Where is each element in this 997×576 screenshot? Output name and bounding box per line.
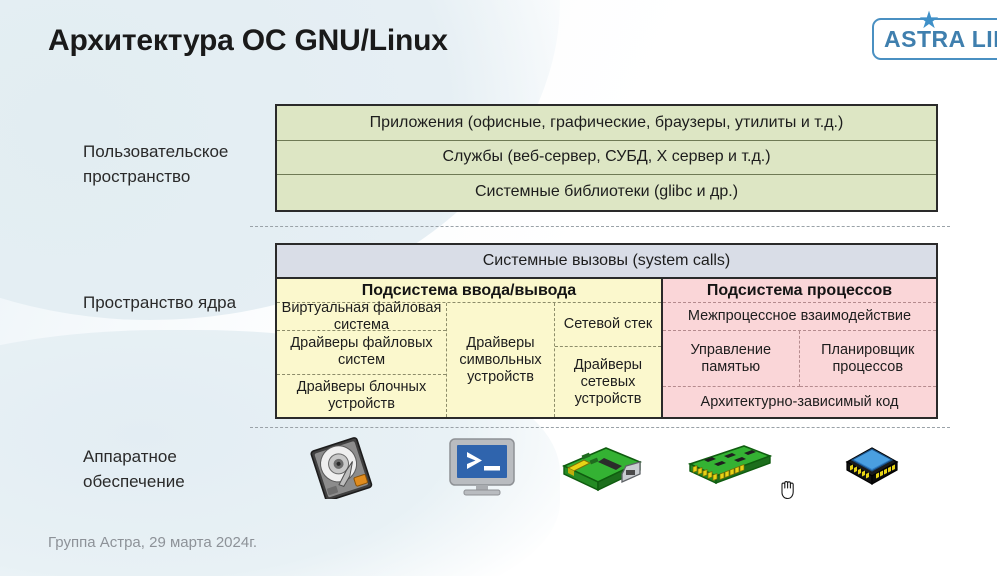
kernel-space-stack: Системные вызовы (system calls) Подсисте… [275,243,938,419]
user-row-system-libraries: Системные библиотеки (glibc и др.) [277,175,936,210]
cell-char-device-drivers: Драйверы символьных устройств [447,303,554,417]
astra-linux-logo: ★ ASTRA LIN [872,18,997,60]
cell-filesystem-drivers: Драйверы файловых систем [277,331,446,375]
memory-module-icon [686,444,774,488]
process-subsystem-column: Подсистема процессов Межпроцессное взаим… [663,279,936,417]
user-space-stack: Приложения (офисные, графические, браузе… [275,104,938,212]
slide-canvas: Архитектура ОС GNU/Linux ★ ASTRA LIN Пол… [0,0,997,576]
io-subsystem-grid: Виртуальная файловая система Драйверы фа… [277,303,661,417]
cell-network-device-drivers: Драйверы сетевых устройств [555,347,661,417]
user-row-services: Службы (веб-сервер, СУБД, X сервер и т.д… [277,141,936,176]
process-middle-row: Управление памятью Планировщик процессов [663,331,936,387]
user-row-applications: Приложения (офисные, графические, браузе… [277,106,936,141]
hard-disk-icon [307,437,377,499]
page-title: Архитектура ОС GNU/Linux [48,24,448,58]
cpu-chip-icon [843,440,901,490]
footer-text: Группа Астра, 29 марта 2024г. [48,534,257,551]
separator-user-kernel [250,226,950,227]
label-hardware: Аппаратное обеспечение [83,444,263,494]
logo-text: ASTRA LIN [884,26,997,53]
cell-network-stack: Сетевой стек [555,303,661,347]
cell-architecture-dependent-code: Архитектурно-зависимый код [663,387,936,417]
cell-memory-management: Управление памятью [663,331,800,387]
display-terminal-icon [448,437,516,497]
cell-interprocess-communication: Межпроцессное взаимодействие [663,303,936,331]
label-kernel-space: Пространство ядра [83,290,263,315]
separator-kernel-hardware [250,427,950,428]
process-subsystem-title: Подсистема процессов [663,279,936,303]
network-card-icon [560,444,644,492]
cell-process-scheduler: Планировщик процессов [800,331,937,387]
io-left-column: Виртуальная файловая система Драйверы фа… [277,303,447,417]
label-user-space: Пользовательское пространство [83,139,263,189]
kernel-body: Подсистема ввода/вывода Виртуальная файл… [277,279,936,417]
cell-block-device-drivers: Драйверы блочных устройств [277,375,446,418]
io-subsystem-column: Подсистема ввода/вывода Виртуальная файл… [277,279,663,417]
cell-virtual-file-system: Виртуальная файловая система [277,303,446,331]
io-middle-column: Драйверы символьных устройств [447,303,555,417]
io-right-column: Сетевой стек Драйверы сетевых устройств [555,303,661,417]
hand-grab-cursor [778,477,798,501]
system-calls-bar: Системные вызовы (system calls) [277,245,936,279]
process-subsystem-rows: Межпроцессное взаимодействие Управление … [663,303,936,417]
